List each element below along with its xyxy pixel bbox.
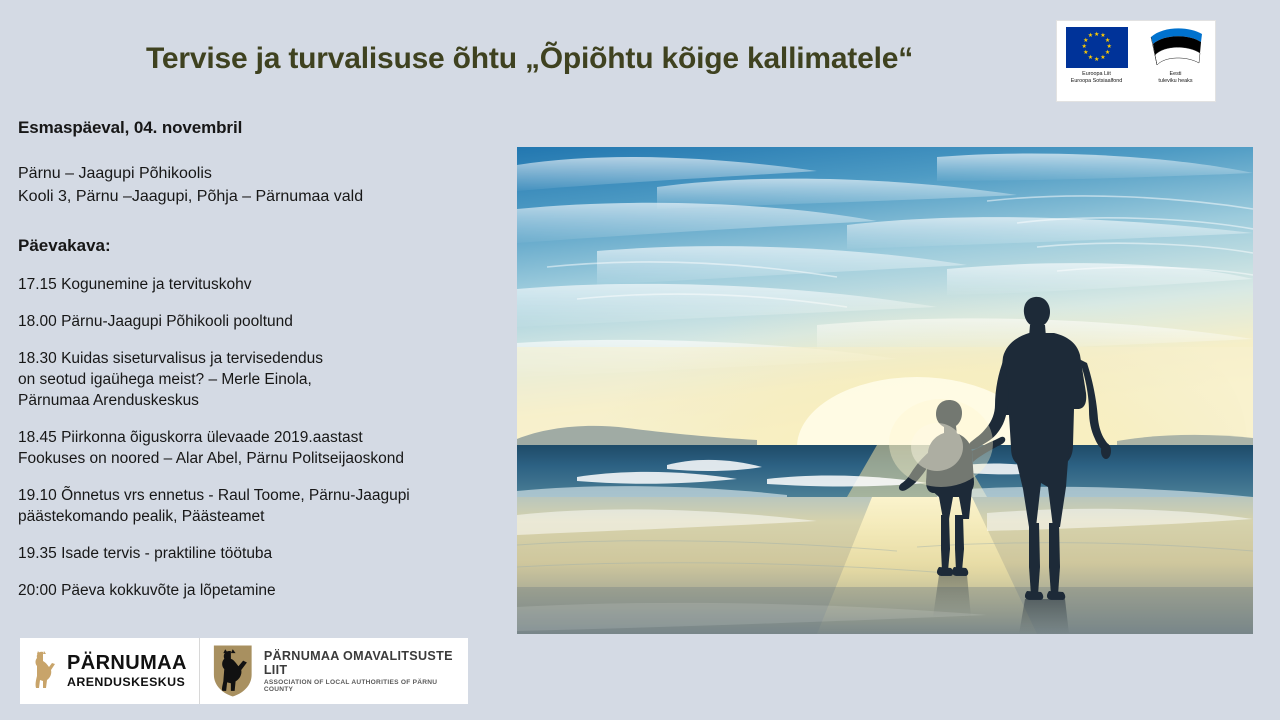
eu-star-icon: ★	[1083, 39, 1088, 44]
page-title: Tervise ja turvalisuse õhtu „Õpiõhtu kõi…	[146, 42, 913, 76]
eu-flag-logo: ★★★★★★★★★★★★ Euroopa Liit Euroopa Sotsia…	[1057, 21, 1136, 101]
eu-star-icon: ★	[1094, 58, 1099, 63]
arenduskeskus-line-2: ARENDUSKESKUS	[67, 676, 187, 688]
photo-illustration	[517, 147, 1253, 634]
gold-bear-icon	[30, 648, 60, 694]
partner-logos-strip: PÄRNUMAA ARENDUSKESKUS PÄRNUMAA OMAVALIT…	[20, 638, 468, 704]
agenda-heading: Päevakava:	[18, 236, 518, 256]
eu-star-icon: ★	[1100, 56, 1105, 61]
agenda-item-line: 18.30 Kuidas siseturvalisus ja tervisede…	[18, 348, 518, 369]
agenda-item-line: on seotud igaühega meist? – Merle Einola…	[18, 369, 518, 390]
shield-with-bear-icon	[212, 642, 254, 700]
omavalitsuste-liit-line-2: ASSOCIATION OF LOCAL AUTHORITIES OF PÄRN…	[264, 679, 468, 693]
agenda-item: 19.10 Õnnetus vrs ennetus - Raul Toome, …	[18, 485, 518, 527]
agenda-item-line: 18.45 Piirkonna õiguskorra ülevaade 2019…	[18, 427, 518, 448]
eu-star-icon: ★	[1094, 33, 1099, 38]
parnumaa-arenduskeskus-logo: PÄRNUMAA ARENDUSKESKUS	[20, 638, 200, 704]
agenda-item-line: 19.35 Isade tervis - praktiline töötuba	[18, 543, 518, 564]
arenduskeskus-line-1: PÄRNUMAA	[67, 653, 187, 673]
agenda-item: 20:00 Päeva kokkuvõte ja lõpetamine	[18, 580, 518, 601]
eu-star-icon: ★	[1088, 34, 1093, 39]
venue-line-1: Pärnu – Jaagupi Põhikoolis	[18, 162, 518, 185]
agenda-item-line: päästekomando pealik, Päästeamet	[18, 506, 518, 527]
event-venue: Pärnu – Jaagupi Põhikoolis Kooli 3, Pärn…	[18, 162, 518, 208]
venue-line-2: Kooli 3, Pärnu –Jaagupi, Põhja – Pärnuma…	[18, 185, 518, 208]
agenda-item-line: 19.10 Õnnetus vrs ennetus - Raul Toome, …	[18, 485, 518, 506]
parnumaa-omavalitsuste-liit-logo: PÄRNUMAA OMAVALITSUSTE LIIT ASSOCIATION …	[200, 638, 468, 704]
estonia-logo: Eesti tuleviku heaks	[1136, 21, 1215, 101]
agenda-list: 17.15 Kogunemine ja tervituskohv18.00 Pä…	[18, 274, 518, 601]
agenda-item: 17.15 Kogunemine ja tervituskohv	[18, 274, 518, 295]
estonia-logo-caption: Eesti tuleviku heaks	[1158, 71, 1192, 85]
agenda-item: 18.30 Kuidas siseturvalisus ja tervisede…	[18, 348, 518, 411]
omavalitsuste-liit-line-1: PÄRNUMAA OMAVALITSUSTE LIIT	[264, 649, 468, 677]
beach-sunset-photo	[517, 147, 1253, 634]
eu-flag-caption: Euroopa Liit Euroopa Sotsiaalfond	[1071, 71, 1123, 85]
agenda-item-line: 17.15 Kogunemine ja tervituskohv	[18, 274, 518, 295]
arenduskeskus-text: PÄRNUMAA ARENDUSKESKUS	[67, 653, 187, 688]
agenda-item-line: 20:00 Päeva kokkuvõte ja lõpetamine	[18, 580, 518, 601]
eu-star-icon: ★	[1082, 45, 1087, 50]
agenda-item: 18.00 Pärnu-Jaagupi Põhikooli pooltund	[18, 311, 518, 332]
omavalitsuste-liit-text: PÄRNUMAA OMAVALITSUSTE LIIT ASSOCIATION …	[264, 649, 468, 693]
agenda-item: 19.35 Isade tervis - praktiline töötuba	[18, 543, 518, 564]
agenda-item-line: Pärnumaa Arenduskeskus	[18, 390, 518, 411]
eu-star-icon: ★	[1083, 51, 1088, 56]
agenda-item: 18.45 Piirkonna õiguskorra ülevaade 2019…	[18, 427, 518, 469]
eu-star-icon: ★	[1088, 56, 1093, 61]
event-date: Esmaspäeval, 04. novembril	[18, 118, 518, 138]
agenda-item-line: Fookuses on noored – Alar Abel, Pärnu Po…	[18, 448, 518, 469]
event-details: Esmaspäeval, 04. novembril Pärnu – Jaagu…	[18, 118, 518, 617]
eu-flag-icon: ★★★★★★★★★★★★	[1066, 27, 1128, 68]
eu-funding-logo-block: ★★★★★★★★★★★★ Euroopa Liit Euroopa Sotsia…	[1056, 20, 1216, 102]
eu-star-icon: ★	[1105, 39, 1110, 44]
agenda-item-line: 18.00 Pärnu-Jaagupi Põhikooli pooltund	[18, 311, 518, 332]
estonian-flag-swoosh-icon	[1145, 27, 1207, 68]
